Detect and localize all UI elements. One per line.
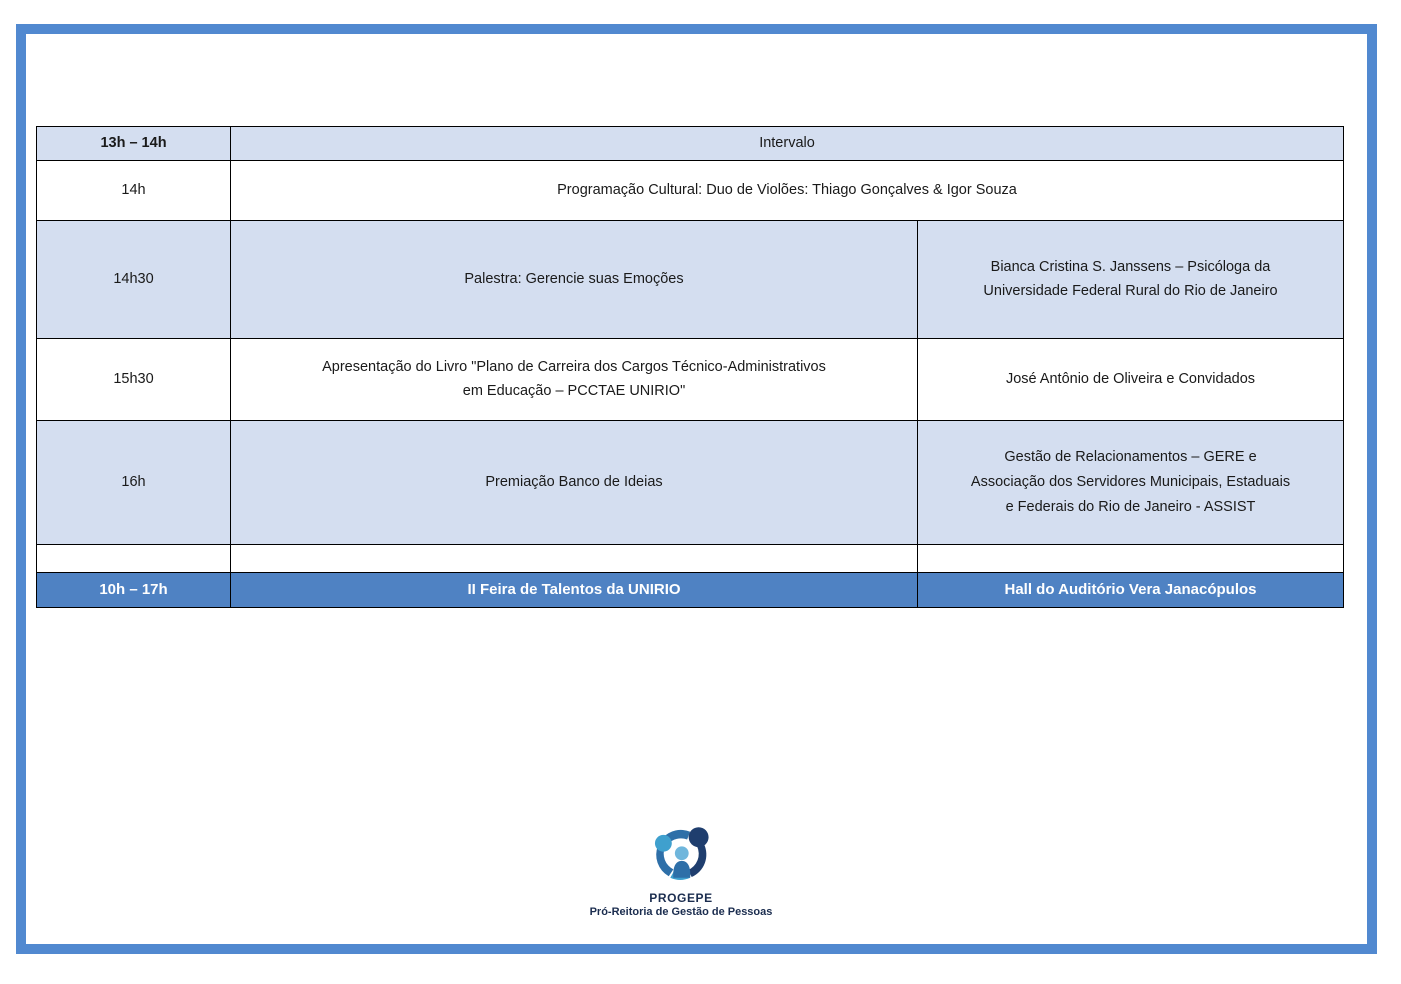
- cell-time: 14h: [37, 160, 231, 220]
- responsible-line-3: e Federais do Rio de Janeiro - ASSIST: [926, 495, 1335, 520]
- cell-time: 10h – 17h: [37, 572, 231, 607]
- cell-time: [37, 544, 231, 572]
- cell-activity: Premiação Banco de Ideias: [231, 420, 918, 544]
- cell-responsible: José Antônio de Oliveira e Convidados: [918, 338, 1344, 420]
- cell-responsible: Gestão de Relacionamentos – GERE e Assoc…: [918, 420, 1344, 544]
- progepe-people-circle-icon: [642, 818, 720, 890]
- cell-responsible: Bianca Cristina S. Janssens – Psicóloga …: [918, 220, 1344, 338]
- cell-activity: Programação Cultural: Duo de Violões: Th…: [231, 160, 1344, 220]
- table-row: 14h30 Palestra: Gerencie suas Emoções Bi…: [37, 220, 1344, 338]
- cell-activity: [231, 544, 918, 572]
- activity-line-1: Apresentação do Livro "Plano de Carreira…: [239, 355, 909, 380]
- cell-activity: Intervalo: [231, 127, 1344, 161]
- table-row: 16h Premiação Banco de Ideias Gestão de …: [37, 420, 1344, 544]
- table-row: 13h – 14h Intervalo: [37, 127, 1344, 161]
- responsible-line-1: Gestão de Relacionamentos – GERE e: [926, 445, 1335, 470]
- cell-activity: Palestra: Gerencie suas Emoções: [231, 220, 918, 338]
- cell-time: 16h: [37, 420, 231, 544]
- table-row: 15h30 Apresentação do Livro "Plano de Ca…: [37, 338, 1344, 420]
- table-row-empty: [37, 544, 1344, 572]
- schedule-table-container: 13h – 14h Intervalo 14h Programação Cult…: [36, 126, 1343, 608]
- event-schedule-table: 13h – 14h Intervalo 14h Programação Cult…: [36, 126, 1344, 608]
- responsible-line-1: Bianca Cristina S. Janssens – Psicóloga …: [926, 255, 1335, 280]
- activity-line-2: em Educação – PCCTAE UNIRIO": [239, 379, 909, 404]
- cell-activity: Apresentação do Livro "Plano de Carreira…: [231, 338, 918, 420]
- page-root: 13h – 14h Intervalo 14h Programação Cult…: [0, 0, 1401, 984]
- cell-responsible: [918, 544, 1344, 572]
- cell-time: 13h – 14h: [37, 127, 231, 161]
- cell-time: 14h30: [37, 220, 231, 338]
- table-row: 14h Programação Cultural: Duo de Violões…: [37, 160, 1344, 220]
- logo-subtitle: Pró-Reitoria de Gestão de Pessoas: [566, 906, 796, 918]
- responsible-line-2: Associação dos Servidores Municipais, Es…: [926, 470, 1335, 495]
- logo-title: PROGEPE: [566, 891, 796, 905]
- cell-time: 15h30: [37, 338, 231, 420]
- cell-activity: II Feira de Talentos da UNIRIO: [231, 572, 918, 607]
- table-row-highlight: 10h – 17h II Feira de Talentos da UNIRIO…: [37, 572, 1344, 607]
- cell-responsible: Hall do Auditório Vera Janacópulos: [918, 572, 1344, 607]
- progepe-logo: PROGEPE Pró-Reitoria de Gestão de Pessoa…: [566, 818, 796, 918]
- responsible-line-2: Universidade Federal Rural do Rio de Jan…: [926, 279, 1335, 304]
